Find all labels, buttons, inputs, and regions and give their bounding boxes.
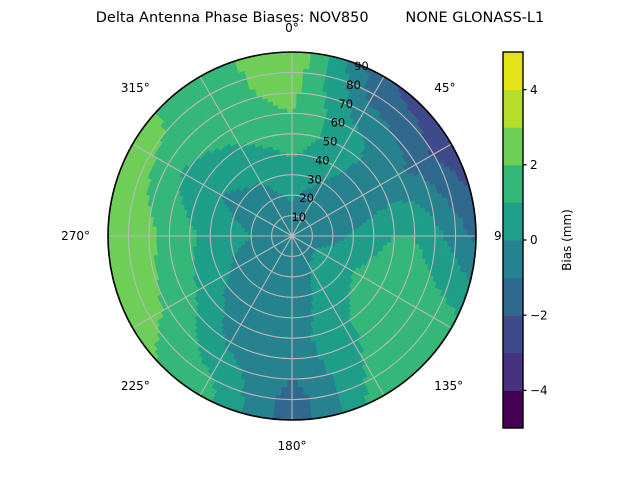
figure-canvas: Delta Antenna Phase Biases: NOV850 NONE … — [0, 0, 640, 480]
